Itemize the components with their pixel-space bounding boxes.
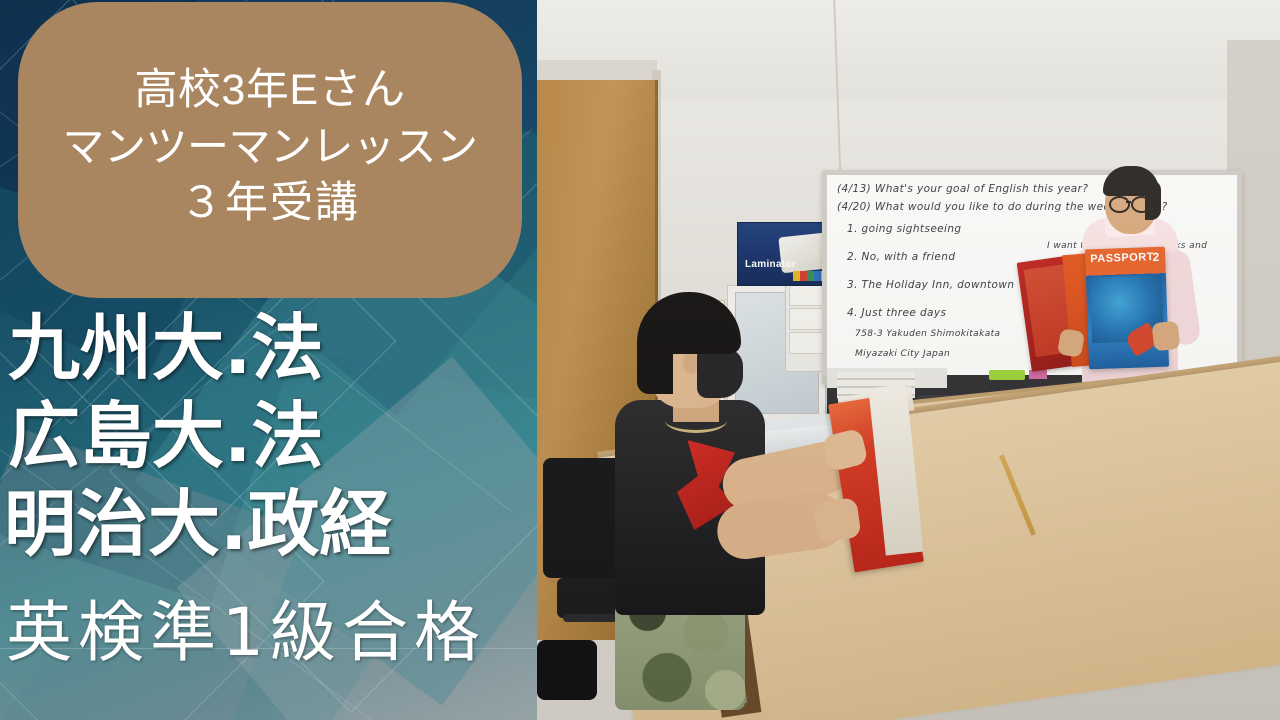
achievement-item-3: 明治大.政経 xyxy=(4,488,391,560)
eyeglasses-bridge xyxy=(1126,201,1131,203)
passport-textbook: PASSPORT 2 xyxy=(1085,247,1169,370)
whiteboard-line-5: 3. The Holiday Inn, downtown xyxy=(847,279,1014,291)
student-necklace xyxy=(665,408,727,433)
laminator-label: Laminator xyxy=(745,259,796,270)
whiteboard-line-7: 758-3 Yakuden Shimokitakata xyxy=(855,329,1000,339)
whiteboard-line-4: 2. No, with a friend xyxy=(847,251,955,263)
badge-line-3: ３年受講 xyxy=(180,175,360,232)
face-mask xyxy=(697,348,743,398)
achievement-item-2: 広島大.法 xyxy=(8,400,323,472)
green-container xyxy=(989,370,1025,380)
whiteboard-line-3: 1. going sightseeing xyxy=(847,223,961,235)
badge-line-2: マンツーマンレッスン xyxy=(62,119,477,175)
whiteboard-line-6: 4. Just three days xyxy=(847,307,946,319)
teacher-hand-right xyxy=(1152,321,1181,352)
achievement-item-1: 九州大.法 xyxy=(8,312,323,384)
headline-badge: 高校3年Eさん マンツーマンレッスン ３年受講 xyxy=(18,2,522,298)
chair-base xyxy=(537,640,597,700)
passport-number: 2 xyxy=(1152,250,1159,264)
eyeglasses-lens-right xyxy=(1131,196,1152,213)
achievement-list: 九州大.法 広島大.法 明治大.政経 英検準1級合格 xyxy=(0,300,537,720)
badge-line-1: 高校3年Eさん xyxy=(134,62,405,119)
certification-label: 英検準1級合格 xyxy=(6,600,486,666)
student-hand-lower xyxy=(812,497,861,543)
classroom-photo: A3 Laminator (4/13) What's your goal of … xyxy=(537,0,1280,720)
whiteboard-line-8: Miyazaki City Japan xyxy=(855,349,950,359)
passport-title: PASSPORT xyxy=(1090,251,1154,265)
whiteboard-line-1: (4/13) What's your goal of English this … xyxy=(837,183,1088,195)
eyeglasses-lens-left xyxy=(1109,196,1130,213)
student-hair-side xyxy=(637,330,673,394)
thumbnail-canvas: 高校3年Eさん マンツーマンレッスン ３年受講 九州大.法 広島大.法 明治大.… xyxy=(0,0,1280,720)
